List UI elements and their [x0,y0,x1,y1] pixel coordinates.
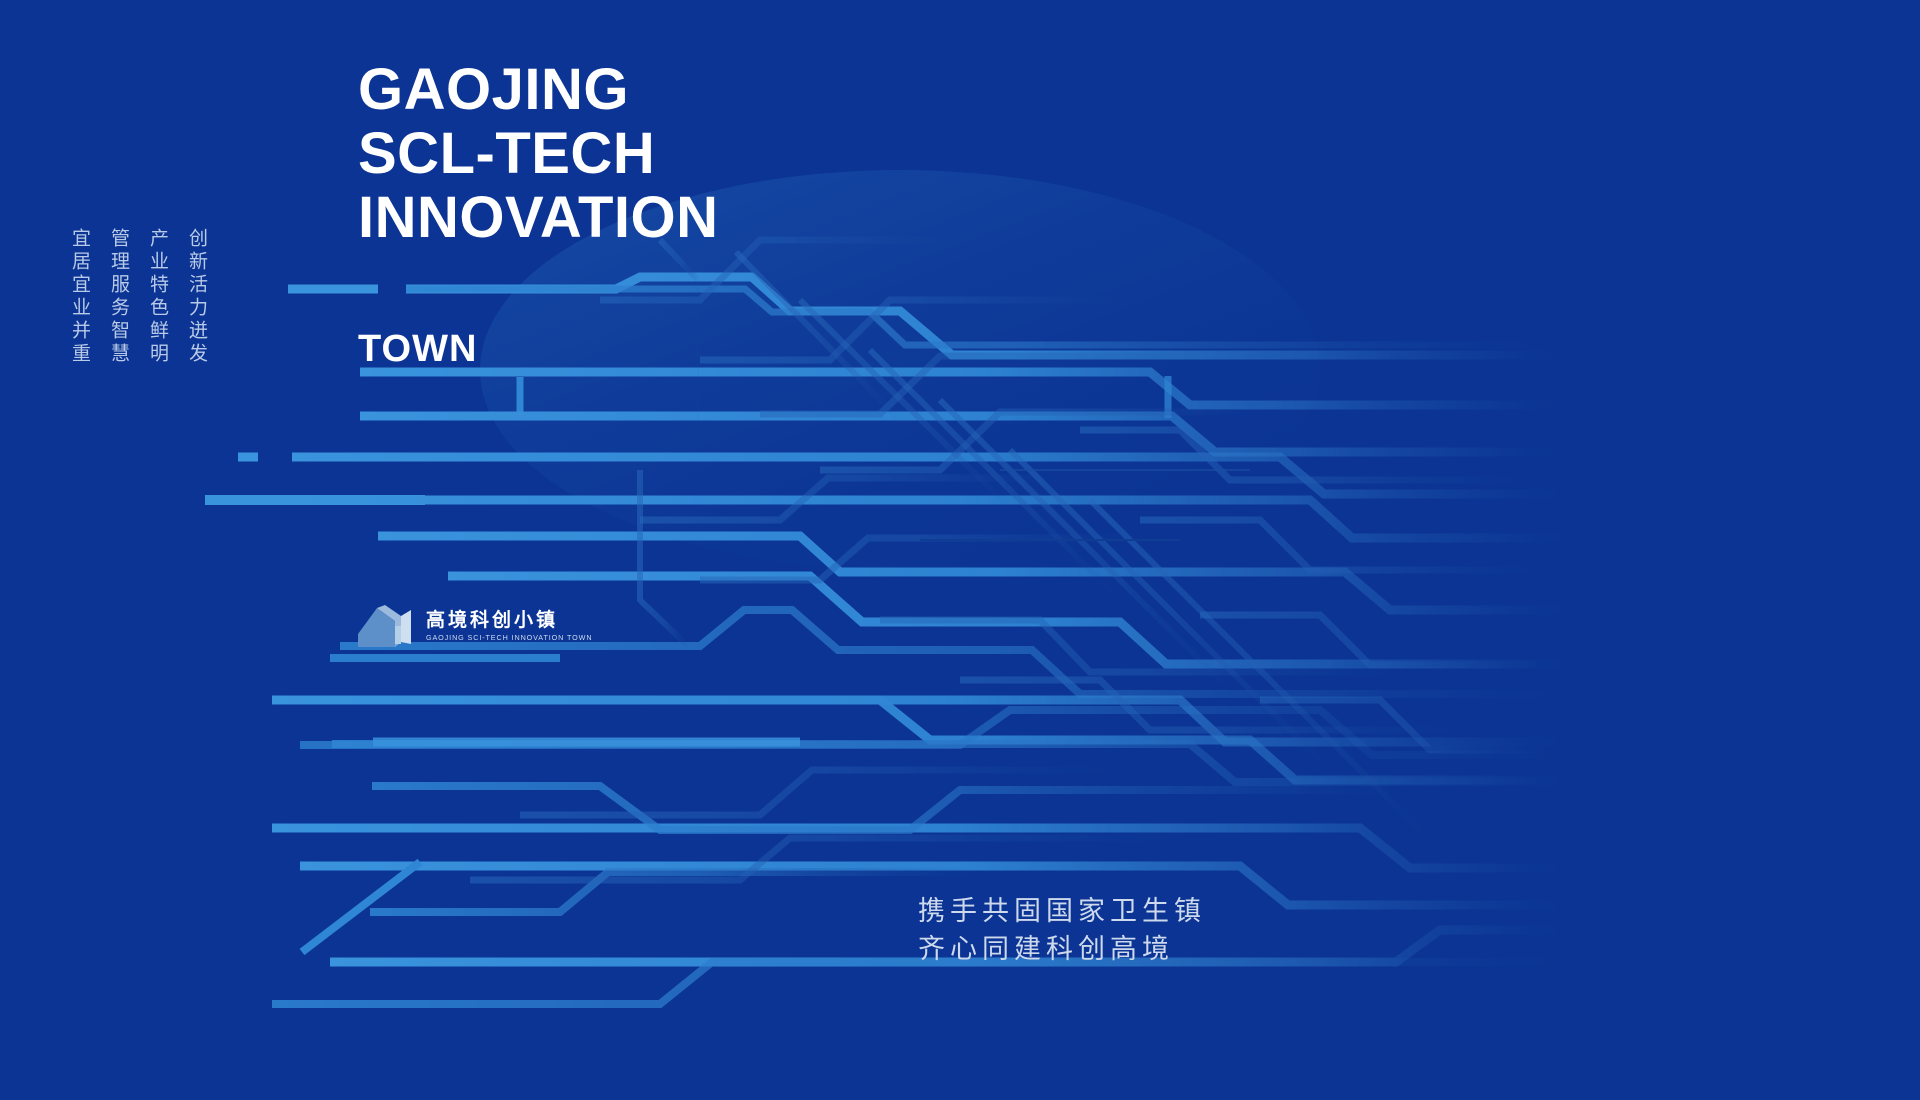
vertical-slogan: 创新活力迸发 产业特色鲜明 管理服务智慧 宜居宜业并重 [70,228,206,366]
page-title: GAOJING SCL-TECH INNOVATION [358,58,719,250]
brand-logo: 高境科创小镇 GAOJING SCI-TECH INNOVATION TOWN [355,604,592,648]
page-title-line-2: SCL-TECH [358,122,719,186]
brand-name-en: GAOJING SCI-TECH INNOVATION TOWN [426,634,592,641]
page-title-line-1: GAOJING [358,58,719,122]
vertical-slogan-column-2: 产业特色鲜明 [148,228,167,366]
vertical-slogan-column-3: 管理服务智慧 [109,228,128,366]
vertical-slogan-column-1: 创新活力迸发 [187,228,206,366]
brand-name-cn: 高境科创小镇 [426,611,592,630]
bottom-slogan: 携手共固国家卫生镇 齐心同建科创高境 [918,893,1206,969]
vertical-slogan-column-4: 宜居宜业并重 [70,228,89,366]
house-building-icon [355,604,417,648]
page-title-line-3: INNOVATION [358,186,719,250]
poster-canvas: 创新活力迸发 产业特色鲜明 管理服务智慧 宜居宜业并重 GAOJING SCL-… [0,0,1920,1100]
bottom-slogan-line-2: 齐心同建科创高境 [918,931,1206,969]
brand-logo-text: 高境科创小镇 GAOJING SCI-TECH INNOVATION TOWN [426,611,592,641]
bottom-slogan-line-1: 携手共固国家卫生镇 [918,893,1206,931]
page-title-line-4: TOWN [358,328,477,371]
